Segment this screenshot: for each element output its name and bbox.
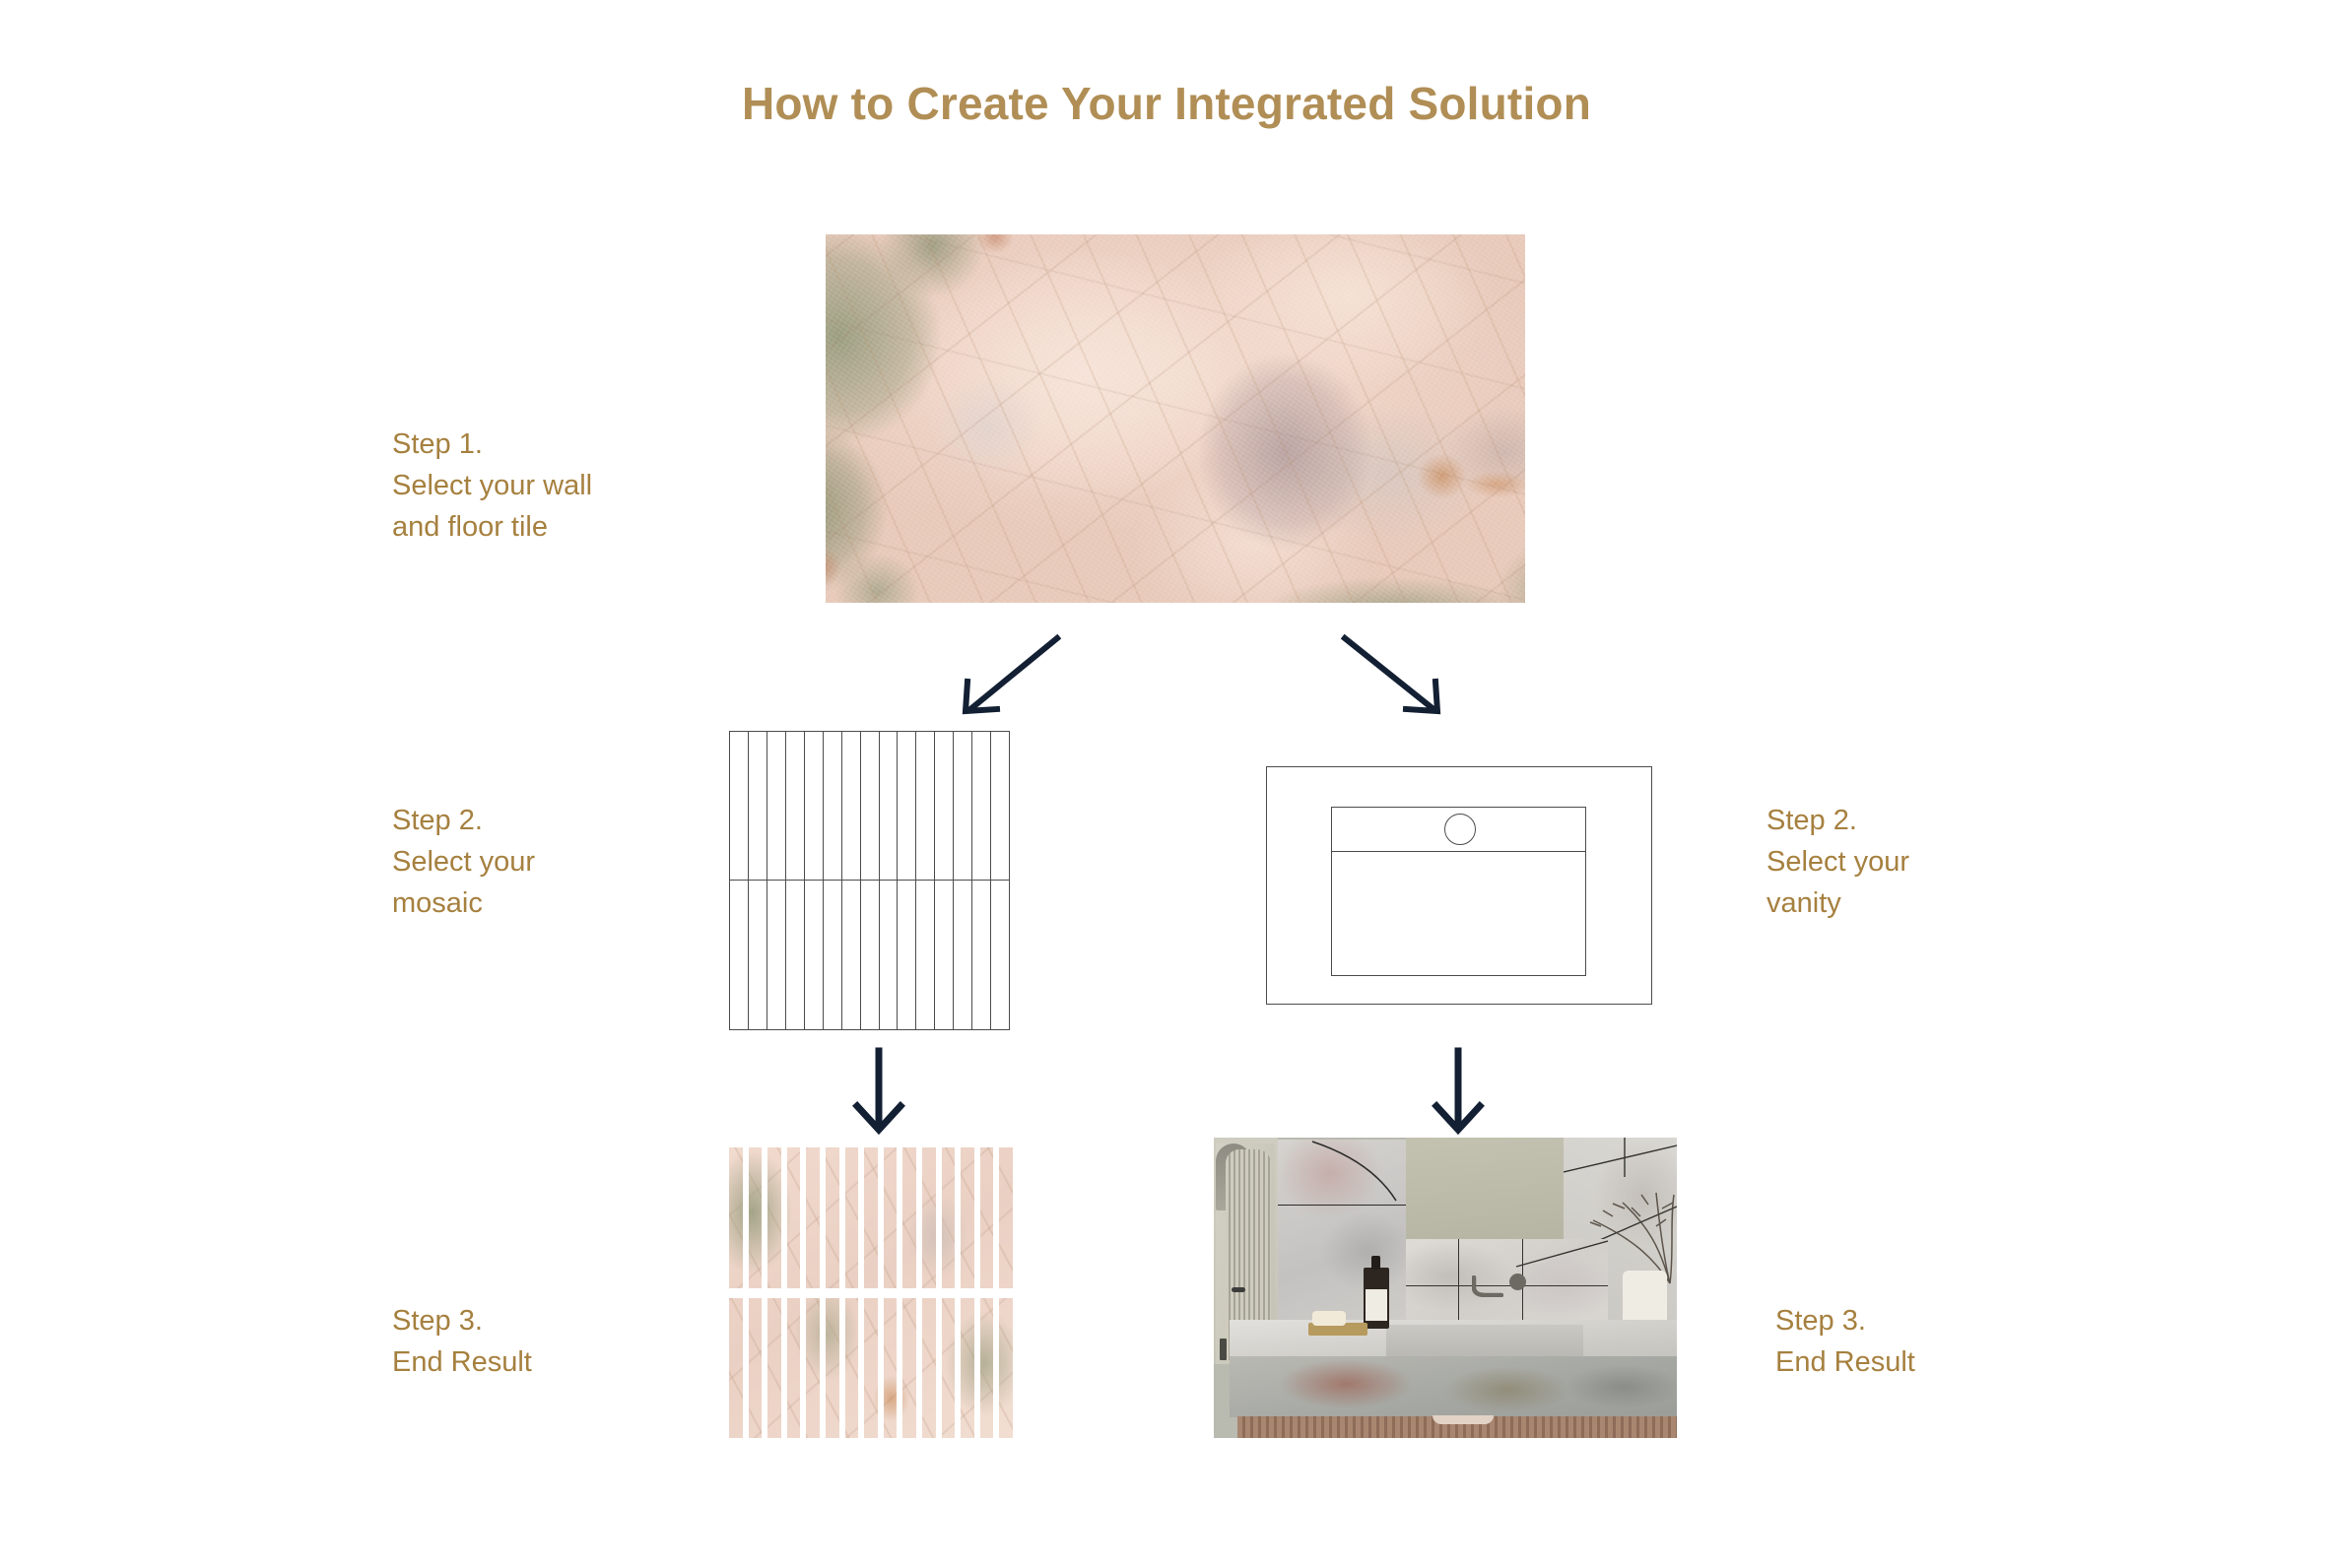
mosaic-stick-texture bbox=[884, 1298, 898, 1439]
mosaic-result-stick bbox=[767, 1147, 781, 1288]
mosaic-result-stick bbox=[999, 1147, 1013, 1288]
mosaic-stick-texture bbox=[806, 1147, 820, 1288]
bath-splash-grout-v1 bbox=[1458, 1239, 1459, 1323]
mosaic-result-stick bbox=[961, 1298, 974, 1439]
mosaic-outline-stick bbox=[748, 880, 767, 1030]
vanity-outline-diagram bbox=[1266, 766, 1652, 1005]
mosaic-outline-stick bbox=[767, 880, 786, 1030]
mosaic-outline-stick bbox=[767, 731, 786, 881]
mosaic-stick-texture bbox=[729, 1147, 743, 1288]
mosaic-result-stick bbox=[999, 1298, 1013, 1439]
mosaic-outline-stick bbox=[971, 731, 991, 881]
mosaic-outline-stick bbox=[841, 731, 861, 881]
mosaic-stick-texture bbox=[980, 1298, 994, 1439]
bath-fluted-cabinet bbox=[1237, 1416, 1677, 1438]
mosaic-stick-texture bbox=[922, 1147, 936, 1288]
bath-door-handle bbox=[1232, 1287, 1245, 1292]
bath-counter-apron bbox=[1230, 1356, 1677, 1417]
mosaic-result-stick bbox=[826, 1147, 839, 1288]
mosaic-stick-texture bbox=[864, 1147, 878, 1288]
mosaic-stick-texture bbox=[787, 1298, 801, 1439]
mosaic-stick-texture bbox=[999, 1298, 1013, 1439]
mosaic-outline-stick bbox=[879, 880, 899, 1030]
vanity-basin-divider-line bbox=[1331, 851, 1586, 852]
mosaic-stick-texture bbox=[845, 1298, 859, 1439]
mosaic-outline-stick bbox=[897, 731, 916, 881]
mosaic-stick-texture bbox=[729, 1298, 743, 1439]
bath-dispenser-label bbox=[1366, 1289, 1387, 1321]
mosaic-result-stick bbox=[902, 1147, 916, 1288]
mosaic-outline-row bbox=[729, 881, 1009, 1030]
mosaic-result-stick bbox=[826, 1298, 839, 1439]
mosaic-stick-texture bbox=[942, 1147, 956, 1288]
mosaic-outline-stick bbox=[804, 880, 824, 1030]
mosaic-result-stick bbox=[787, 1147, 801, 1288]
mosaic-result-stick bbox=[806, 1298, 820, 1439]
mosaic-stick-texture bbox=[826, 1147, 839, 1288]
infographic-canvas: How to Create Your Integrated Solution S… bbox=[0, 0, 2333, 1568]
mosaic-stick-texture bbox=[749, 1298, 763, 1439]
bathroom-vanity-photo bbox=[1214, 1138, 1677, 1438]
mosaic-result-stick bbox=[980, 1298, 994, 1439]
bath-dispenser-pump bbox=[1371, 1256, 1380, 1270]
bath-soap-dispenser bbox=[1364, 1268, 1389, 1329]
mosaic-outline-stick bbox=[860, 731, 880, 881]
mosaic-outline-stick bbox=[897, 880, 916, 1030]
mosaic-outline-stick bbox=[823, 731, 842, 881]
mosaic-stick-texture bbox=[806, 1298, 820, 1439]
bath-green-wall bbox=[1406, 1138, 1564, 1241]
mosaic-outline-stick bbox=[915, 731, 935, 881]
mosaic-result-stick bbox=[845, 1298, 859, 1439]
mosaic-stick-texture bbox=[922, 1298, 936, 1439]
mosaic-result-stick bbox=[884, 1298, 898, 1439]
mosaic-result-stick bbox=[980, 1147, 994, 1288]
mosaic-outline-stick bbox=[934, 880, 954, 1030]
step-1-caption: Step 1. Select your wall and floor tile bbox=[392, 424, 707, 548]
mosaic-outline-stick bbox=[785, 880, 805, 1030]
mosaic-result-stick bbox=[749, 1147, 763, 1288]
mosaic-stick-texture bbox=[787, 1147, 801, 1288]
mosaic-result-stick bbox=[884, 1147, 898, 1288]
mosaic-outline-stick bbox=[990, 880, 1010, 1030]
mosaic-outline-stick bbox=[953, 880, 972, 1030]
mosaic-stick-texture bbox=[767, 1298, 781, 1439]
mosaic-outline-stick bbox=[990, 731, 1010, 881]
mosaic-outline-stick bbox=[934, 731, 954, 881]
mosaic-result-stick bbox=[845, 1147, 859, 1288]
bath-wall-niche bbox=[1216, 1143, 1251, 1210]
vanity-basin-outline bbox=[1331, 807, 1586, 976]
mosaic-result-stick bbox=[922, 1147, 936, 1288]
step-3-mosaic-caption: Step 3. End Result bbox=[392, 1300, 707, 1383]
mosaic-stick-texture bbox=[999, 1147, 1013, 1288]
mosaic-outline-stick bbox=[729, 880, 749, 1030]
mosaic-stick-texture bbox=[942, 1298, 956, 1439]
mosaic-result-stick bbox=[749, 1298, 763, 1439]
mosaic-outline-stick bbox=[860, 880, 880, 1030]
mosaic-result-stick bbox=[806, 1147, 820, 1288]
mosaic-outline-stick bbox=[841, 880, 861, 1030]
mosaic-stick-texture bbox=[749, 1147, 763, 1288]
mosaic-result-stick bbox=[961, 1147, 974, 1288]
bath-integrated-basin bbox=[1386, 1325, 1583, 1357]
mosaic-outline-stick bbox=[748, 731, 767, 881]
mosaic-result-stick bbox=[767, 1298, 781, 1439]
mosaic-result-stick bbox=[787, 1298, 801, 1439]
stone-slab-image bbox=[826, 234, 1525, 603]
mosaic-outline-stick bbox=[971, 880, 991, 1030]
mosaic-result-row bbox=[729, 1298, 1013, 1439]
arrow-slab-to-mosaic bbox=[946, 630, 1074, 724]
mosaic-result-stick bbox=[729, 1298, 743, 1439]
mosaic-outline-stick bbox=[953, 731, 972, 881]
mosaic-result-stick bbox=[942, 1147, 956, 1288]
mosaic-stick-texture bbox=[845, 1147, 859, 1288]
arrow-mosaic-to-result bbox=[849, 1049, 908, 1138]
mosaic-outline-stick bbox=[879, 731, 899, 881]
mosaic-stick-texture bbox=[884, 1147, 898, 1288]
mosaic-outline-stick bbox=[785, 731, 805, 881]
bath-niche-bottle bbox=[1220, 1339, 1227, 1360]
arrow-slab-to-vanity bbox=[1335, 630, 1463, 724]
mosaic-outline-row bbox=[729, 731, 1009, 881]
mosaic-result-stick bbox=[864, 1147, 878, 1288]
mosaic-stick-texture bbox=[902, 1147, 916, 1288]
mosaic-outline-stick bbox=[915, 880, 935, 1030]
bath-cabinet-pull bbox=[1433, 1415, 1494, 1424]
mosaic-outline-stick bbox=[804, 731, 824, 881]
mosaic-stick-texture bbox=[864, 1298, 878, 1439]
mosaic-result-image bbox=[729, 1147, 1013, 1438]
step-3-vanity-caption: Step 3. End Result bbox=[1775, 1300, 2091, 1383]
bath-wall-tap-spout bbox=[1472, 1275, 1503, 1297]
mosaic-stick-texture bbox=[902, 1298, 916, 1439]
mosaic-stick-texture bbox=[826, 1298, 839, 1439]
mosaic-outline-diagram bbox=[729, 731, 1009, 1030]
mosaic-stick-texture bbox=[767, 1147, 781, 1288]
mosaic-stick-texture bbox=[961, 1298, 974, 1439]
vanity-tap-hole-circle-icon bbox=[1444, 814, 1476, 845]
mosaic-result-stick bbox=[864, 1298, 878, 1439]
bath-soap-bar bbox=[1312, 1311, 1346, 1326]
mosaic-stick-texture bbox=[980, 1147, 994, 1288]
mosaic-result-row bbox=[729, 1147, 1013, 1288]
step-2-mosaic-caption: Step 2. Select your mosaic bbox=[392, 800, 688, 924]
slab-grain-layer bbox=[826, 234, 1525, 603]
mosaic-outline-stick bbox=[823, 880, 842, 1030]
mosaic-result-stick bbox=[729, 1147, 743, 1288]
mosaic-stick-texture bbox=[961, 1147, 974, 1288]
step-2-vanity-caption: Step 2. Select your vanity bbox=[1766, 800, 2082, 924]
bath-tap-mixer-knob bbox=[1509, 1274, 1526, 1290]
mosaic-result-stick bbox=[922, 1298, 936, 1439]
mosaic-result-stick bbox=[942, 1298, 956, 1439]
mosaic-outline-stick bbox=[729, 731, 749, 881]
page-title: How to Create Your Integrated Solution bbox=[0, 77, 2333, 130]
arrow-vanity-to-result bbox=[1429, 1049, 1488, 1138]
bath-soap-tray bbox=[1308, 1323, 1367, 1336]
mosaic-result-stick bbox=[902, 1298, 916, 1439]
